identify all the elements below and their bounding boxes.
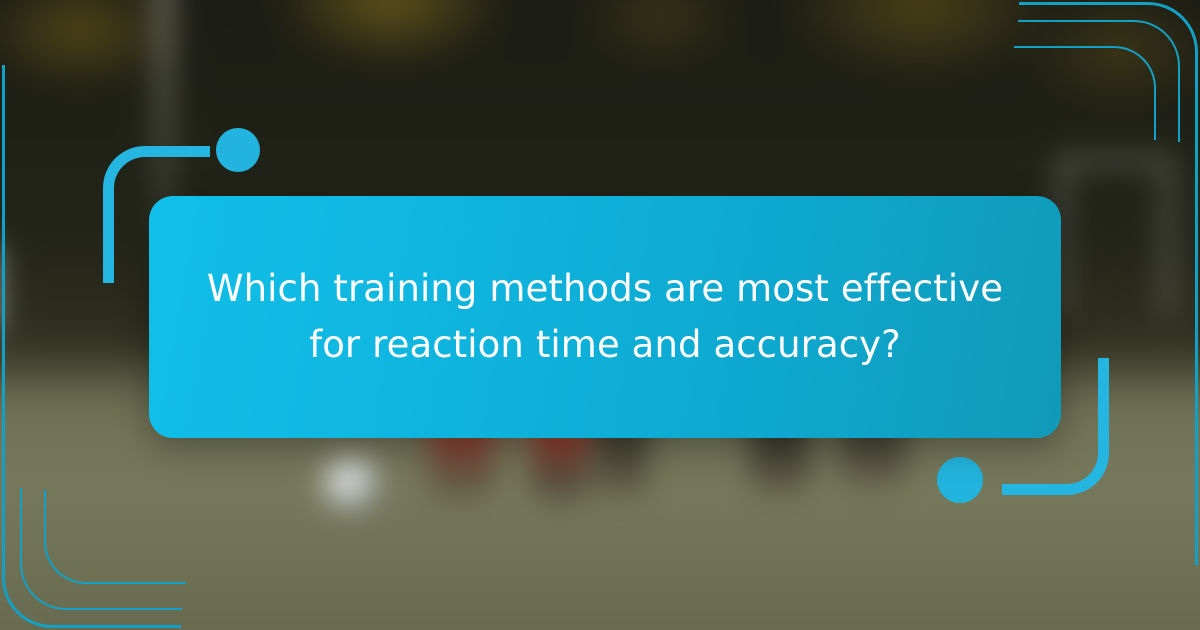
frame-line-bottom-left-inner [44,490,186,584]
question-title: Which training methods are most effectiv… [151,261,1059,373]
frame-line-top-right-inner [1014,46,1156,140]
accent-dot-bottom-right [937,457,983,503]
question-card: Which training methods are most effectiv… [149,196,1061,438]
social-card-canvas: Which training methods are most effectiv… [0,0,1200,630]
accent-dot-top-left [216,128,260,172]
soccer-ball [324,458,380,510]
